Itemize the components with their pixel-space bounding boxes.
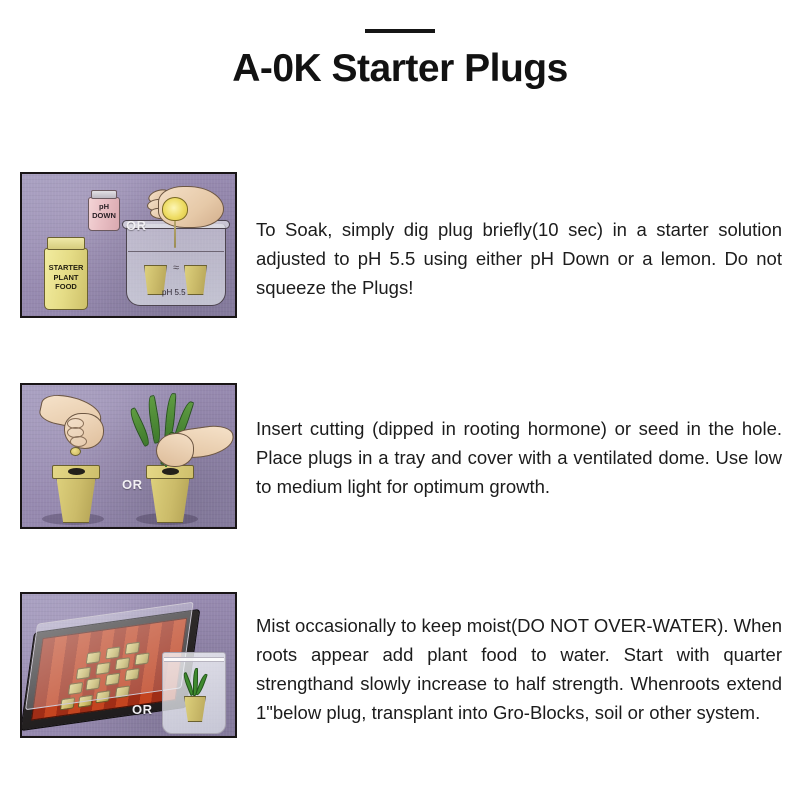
food-jar-label-line1: STARTER [49, 263, 84, 272]
starter-plug-pot-left [52, 465, 100, 523]
starter-plant-food-jar-icon: STARTER PLANT FOOD [44, 237, 88, 310]
seed-icon [70, 447, 81, 456]
bag-ziplock-seal [164, 657, 224, 662]
lemon-icon [162, 197, 188, 221]
ph-down-label-line1: pH [99, 202, 109, 211]
ph-down-bottle-cap [91, 190, 117, 199]
tray-illustration-panel: OR [20, 592, 237, 738]
beaker-ph-label: pH 5.5 [162, 288, 186, 297]
step-insert-text: Insert cutting (dipped in rooting hormon… [256, 414, 782, 501]
bubble-stream-icon: ≈ [173, 264, 179, 288]
ph-down-label-line2: DOWN [92, 211, 116, 220]
or-label-step3: OR [132, 702, 153, 717]
title-divider-rule [365, 29, 435, 33]
or-label-step1: OR [126, 218, 147, 233]
ph-down-bottle-icon: pH DOWN [88, 190, 120, 231]
page-header: A-0K Starter Plugs [0, 0, 800, 91]
insert-illustration-panel: OR [20, 383, 237, 529]
hand-squeezing-lemon-icon [140, 180, 228, 238]
knuckle-3 [70, 436, 87, 447]
hand-holding-cutting-icon [150, 421, 232, 475]
food-jar-cap [47, 237, 85, 250]
beaker-waterline [128, 251, 224, 252]
food-jar-label: STARTER PLANT FOOD [44, 263, 88, 292]
pot-hole-left [68, 468, 85, 475]
plastic-bag-icon [162, 652, 226, 734]
food-jar-label-line3: FOOD [55, 282, 77, 291]
page-title: A-0K Starter Plugs [0, 47, 800, 91]
step-soak-text: To Soak, simply dig plug briefly(10 sec)… [256, 215, 782, 302]
step-mist-text: Mist occasionally to keep moist(DO NOT O… [256, 611, 782, 727]
food-jar-label-line2: PLANT [54, 273, 79, 282]
lemon-juice-drip [174, 218, 176, 248]
soak-illustration-panel: pH DOWN STARTER PLANT FOOD OR [20, 172, 237, 318]
fist-right [156, 433, 194, 467]
starter-plug-right [184, 265, 207, 295]
or-label-step2: OR [122, 477, 143, 492]
ph-down-bottle-label: pH DOWN [88, 202, 120, 220]
